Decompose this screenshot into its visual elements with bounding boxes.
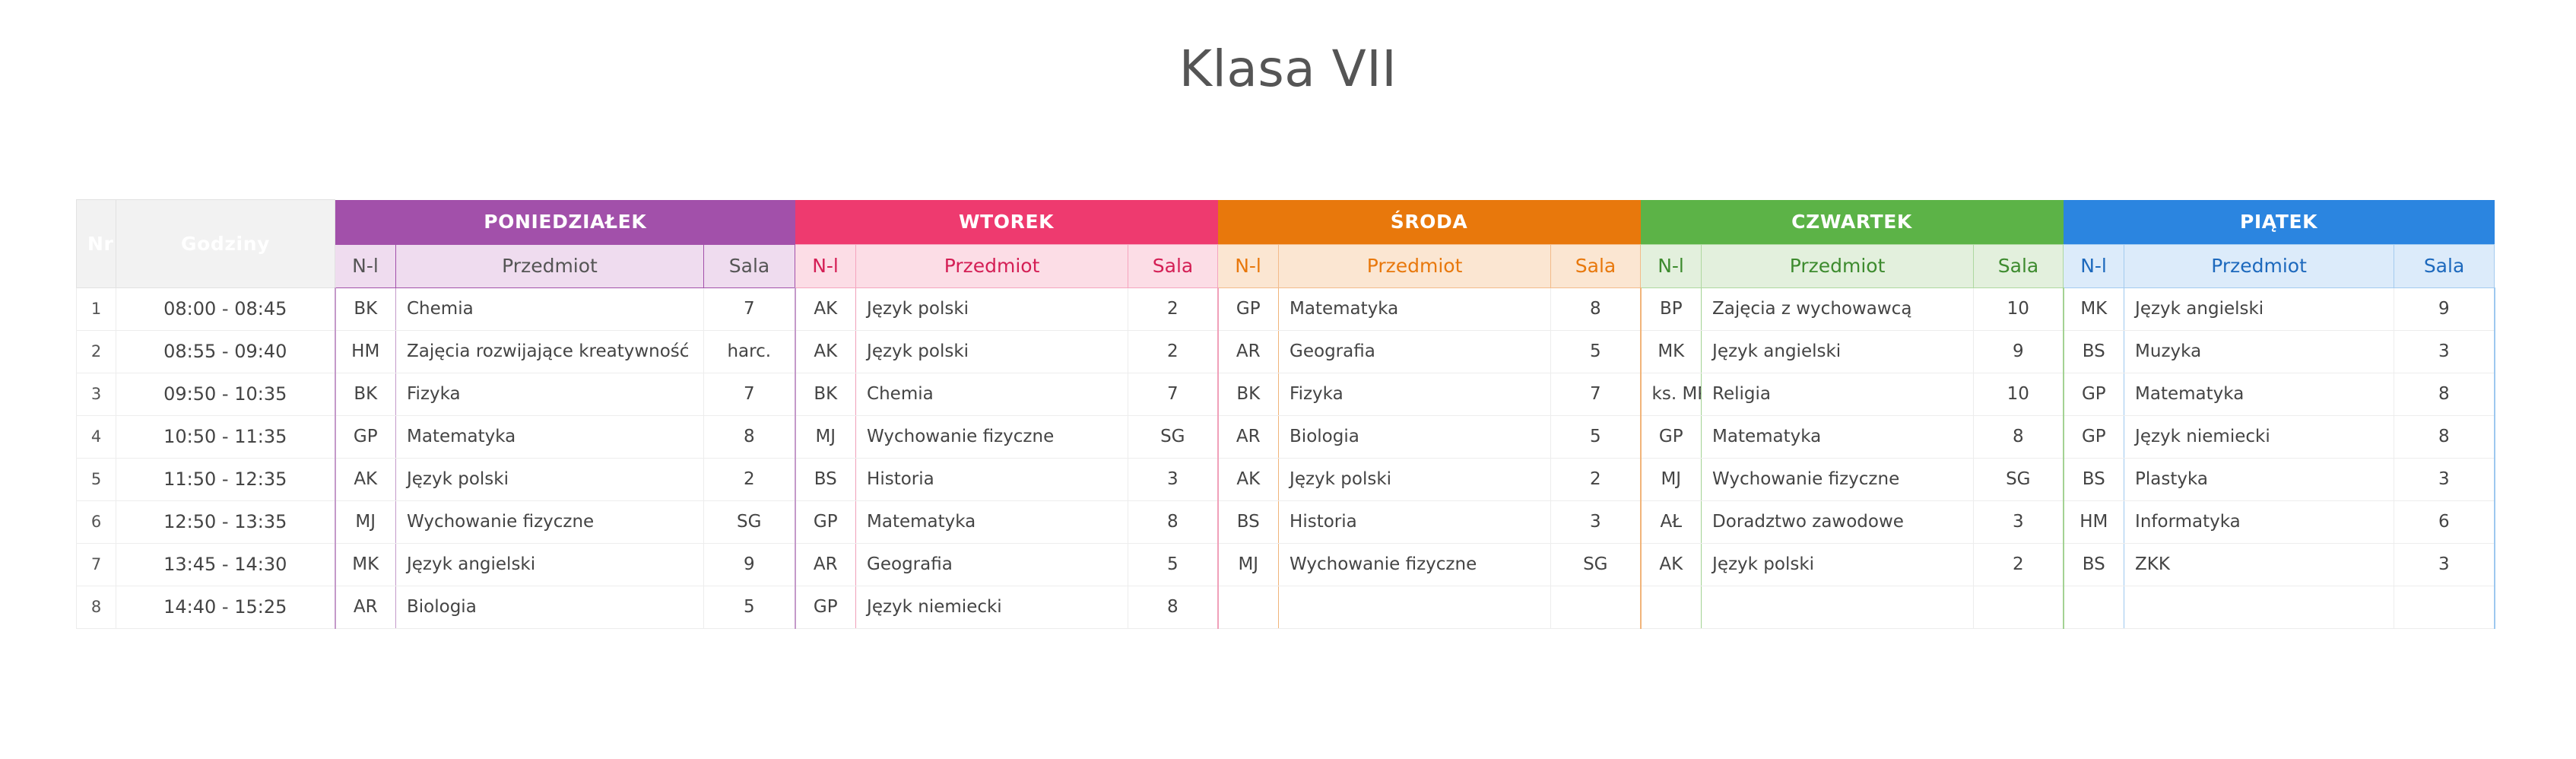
cell-teacher-tuesday: AK [795,330,856,373]
cell-room-wednesday: 5 [1551,330,1641,373]
cell-teacher-wednesday: GP [1218,287,1279,330]
cell-teacher-wednesday: AR [1218,330,1279,373]
cell-subject-wednesday: Historia [1279,500,1551,543]
cell-lesson-number: 6 [77,500,116,543]
cell-subject-tuesday: Chemia [856,373,1128,415]
cell-subject-thursday: Matematyka [1702,415,1974,458]
cell-teacher-tuesday: GP [795,500,856,543]
cell-room-friday: 6 [2394,500,2495,543]
cell-subject-monday: Fizyka [396,373,704,415]
cell-room-tuesday: 5 [1128,543,1218,586]
cell-room-tuesday: SG [1128,415,1218,458]
cell-teacher-monday: BK [335,373,396,415]
cell-subject-wednesday: Język polski [1279,458,1551,500]
cell-subject-tuesday: Matematyka [856,500,1128,543]
cell-teacher-tuesday: AR [795,543,856,586]
cell-subject-tuesday: Język polski [856,287,1128,330]
day-header-monday: PONIEDZIAŁEK [335,200,795,245]
cell-teacher-friday: GP [2064,415,2124,458]
table-row: 814:40 - 15:25ARBiologia5GPJęzyk niemiec… [77,586,2495,628]
cell-subject-monday: Matematyka [396,415,704,458]
cell-room-tuesday: 8 [1128,500,1218,543]
header-nr: Nr [77,200,116,288]
cell-room-friday: 3 [2394,543,2495,586]
cell-subject-tuesday: Wychowanie fizyczne [856,415,1128,458]
cell-lesson-number: 5 [77,458,116,500]
cell-lesson-time: 08:55 - 09:40 [116,330,335,373]
cell-teacher-thursday: ks. MP [1641,373,1702,415]
cell-subject-thursday: Język polski [1702,543,1974,586]
cell-teacher-tuesday: MJ [795,415,856,458]
cell-subject-wednesday: Matematyka [1279,287,1551,330]
table-row: 612:50 - 13:35MJWychowanie fizyczneSGGPM… [77,500,2495,543]
cell-lesson-time: 14:40 - 15:25 [116,586,335,628]
cell-teacher-wednesday [1218,586,1279,628]
cell-room-tuesday: 2 [1128,287,1218,330]
cell-teacher-wednesday: AK [1218,458,1279,500]
cell-lesson-time: 11:50 - 12:35 [116,458,335,500]
cell-teacher-friday [2064,586,2124,628]
cell-teacher-thursday [1641,586,1702,628]
cell-subject-friday: Język angielski [2124,287,2394,330]
cell-teacher-thursday: BP [1641,287,1702,330]
cell-room-friday [2394,586,2495,628]
cell-lesson-time: 10:50 - 11:35 [116,415,335,458]
cell-subject-wednesday: Wychowanie fizyczne [1279,543,1551,586]
cell-subject-thursday: Doradztwo zawodowe [1702,500,1974,543]
cell-teacher-monday: AK [335,458,396,500]
timetable: Nr Godziny PONIEDZIAŁEK WTOREK ŚRODA CZW… [76,199,2495,629]
subheader-friday-subject: Przedmiot [2124,244,2394,287]
cell-lesson-number: 7 [77,543,116,586]
cell-teacher-monday: GP [335,415,396,458]
cell-subject-thursday [1702,586,1974,628]
cell-lesson-number: 3 [77,373,116,415]
cell-teacher-wednesday: BS [1218,500,1279,543]
cell-lesson-time: 12:50 - 13:35 [116,500,335,543]
cell-teacher-friday: BS [2064,458,2124,500]
cell-teacher-tuesday: GP [795,586,856,628]
cell-lesson-number: 2 [77,330,116,373]
subheader-row: N-l Przedmiot Sala N-l Przedmiot Sala N-… [77,244,2495,287]
page-title: Klasa VII [0,40,2576,98]
cell-subject-wednesday: Geografia [1279,330,1551,373]
cell-subject-monday: Zajęcia rozwijające kreatywność [396,330,704,373]
cell-teacher-tuesday: BS [795,458,856,500]
cell-subject-friday: Matematyka [2124,373,2394,415]
header-godziny: Godziny [116,200,335,288]
table-row: 108:00 - 08:45BKChemia7AKJęzyk polski2GP… [77,287,2495,330]
cell-subject-wednesday: Fizyka [1279,373,1551,415]
cell-subject-friday: Plastyka [2124,458,2394,500]
cell-teacher-friday: MK [2064,287,2124,330]
table-row: 713:45 - 14:30MKJęzyk angielski9ARGeogra… [77,543,2495,586]
subheader-friday-teacher: N-l [2064,244,2124,287]
cell-subject-friday: Muzyka [2124,330,2394,373]
cell-subject-friday [2124,586,2394,628]
subheader-tuesday-teacher: N-l [795,244,856,287]
day-header-wednesday: ŚRODA [1218,200,1641,245]
cell-room-thursday: 10 [1974,373,2064,415]
cell-room-thursday: SG [1974,458,2064,500]
cell-subject-monday: Wychowanie fizyczne [396,500,704,543]
subheader-tuesday-room: Sala [1128,244,1218,287]
cell-subject-thursday: Język angielski [1702,330,1974,373]
timetable-header: Nr Godziny PONIEDZIAŁEK WTOREK ŚRODA CZW… [77,200,2495,288]
day-header-row: Nr Godziny PONIEDZIAŁEK WTOREK ŚRODA CZW… [77,200,2495,245]
cell-teacher-monday: MJ [335,500,396,543]
subheader-thursday-room: Sala [1974,244,2064,287]
cell-room-monday: 9 [704,543,795,586]
cell-teacher-monday: HM [335,330,396,373]
table-row: 309:50 - 10:35BKFizyka7BKChemia7BKFizyka… [77,373,2495,415]
cell-room-friday: 3 [2394,458,2495,500]
cell-room-monday: 5 [704,586,795,628]
cell-room-monday: 8 [704,415,795,458]
cell-subject-tuesday: Geografia [856,543,1128,586]
cell-room-wednesday: 7 [1551,373,1641,415]
cell-subject-thursday: Religia [1702,373,1974,415]
cell-room-thursday: 2 [1974,543,2064,586]
subheader-wednesday-teacher: N-l [1218,244,1279,287]
cell-teacher-wednesday: AR [1218,415,1279,458]
cell-lesson-number: 8 [77,586,116,628]
cell-room-thursday: 3 [1974,500,2064,543]
cell-teacher-monday: BK [335,287,396,330]
cell-lesson-number: 4 [77,415,116,458]
cell-room-tuesday: 2 [1128,330,1218,373]
cell-subject-friday: Informatyka [2124,500,2394,543]
cell-teacher-friday: GP [2064,373,2124,415]
cell-teacher-friday: HM [2064,500,2124,543]
subheader-monday-room: Sala [704,244,795,287]
cell-teacher-tuesday: AK [795,287,856,330]
cell-subject-thursday: Zajęcia z wychowawcą [1702,287,1974,330]
subheader-tuesday-subject: Przedmiot [856,244,1128,287]
cell-subject-tuesday: Język polski [856,330,1128,373]
cell-teacher-wednesday: MJ [1218,543,1279,586]
cell-room-tuesday: 8 [1128,586,1218,628]
cell-room-wednesday: 3 [1551,500,1641,543]
table-row: 208:55 - 09:40HMZajęcia rozwijające krea… [77,330,2495,373]
cell-room-wednesday: 2 [1551,458,1641,500]
cell-room-monday: 7 [704,373,795,415]
cell-subject-friday: Język niemiecki [2124,415,2394,458]
cell-lesson-time: 13:45 - 14:30 [116,543,335,586]
cell-room-monday: 7 [704,287,795,330]
cell-subject-tuesday: Język niemiecki [856,586,1128,628]
cell-teacher-friday: BS [2064,330,2124,373]
cell-subject-tuesday: Historia [856,458,1128,500]
cell-room-thursday: 9 [1974,330,2064,373]
timetable-page: Klasa VII Nr Godziny PONIEDZIAŁEK WTOREK… [0,0,2576,759]
cell-teacher-thursday: MJ [1641,458,1702,500]
cell-subject-monday: Język angielski [396,543,704,586]
cell-room-wednesday: SG [1551,543,1641,586]
cell-lesson-number: 1 [77,287,116,330]
cell-teacher-tuesday: BK [795,373,856,415]
cell-teacher-monday: MK [335,543,396,586]
cell-room-monday: SG [704,500,795,543]
subheader-monday-subject: Przedmiot [396,244,704,287]
cell-lesson-time: 08:00 - 08:45 [116,287,335,330]
cell-subject-thursday: Wychowanie fizyczne [1702,458,1974,500]
cell-room-friday: 8 [2394,373,2495,415]
cell-subject-monday: Biologia [396,586,704,628]
table-row: 410:50 - 11:35GPMatematyka8MJWychowanie … [77,415,2495,458]
cell-teacher-thursday: GP [1641,415,1702,458]
day-header-friday: PIĄTEK [2064,200,2495,245]
cell-room-thursday: 8 [1974,415,2064,458]
cell-subject-friday: ZKK [2124,543,2394,586]
subheader-monday-teacher: N-l [335,244,396,287]
table-row: 511:50 - 12:35AKJęzyk polski2BSHistoria3… [77,458,2495,500]
cell-subject-monday: Język polski [396,458,704,500]
cell-room-monday: 2 [704,458,795,500]
cell-lesson-time: 09:50 - 10:35 [116,373,335,415]
day-header-tuesday: WTOREK [795,200,1218,245]
cell-room-thursday [1974,586,2064,628]
cell-room-thursday: 10 [1974,287,2064,330]
cell-room-wednesday: 8 [1551,287,1641,330]
timetable-container: Nr Godziny PONIEDZIAŁEK WTOREK ŚRODA CZW… [76,199,2494,629]
subheader-wednesday-room: Sala [1551,244,1641,287]
subheader-friday-room: Sala [2394,244,2495,287]
subheader-thursday-teacher: N-l [1641,244,1702,287]
cell-teacher-thursday: MK [1641,330,1702,373]
subheader-thursday-subject: Przedmiot [1702,244,1974,287]
cell-teacher-monday: AR [335,586,396,628]
cell-room-wednesday [1551,586,1641,628]
cell-teacher-thursday: AK [1641,543,1702,586]
cell-subject-wednesday [1279,586,1551,628]
cell-room-tuesday: 3 [1128,458,1218,500]
cell-room-tuesday: 7 [1128,373,1218,415]
cell-room-friday: 3 [2394,330,2495,373]
day-header-thursday: CZWARTEK [1641,200,2064,245]
cell-teacher-thursday: AŁ [1641,500,1702,543]
cell-room-monday: harc. [704,330,795,373]
cell-room-friday: 8 [2394,415,2495,458]
timetable-body: 108:00 - 08:45BKChemia7AKJęzyk polski2GP… [77,287,2495,628]
subheader-wednesday-subject: Przedmiot [1279,244,1551,287]
cell-subject-wednesday: Biologia [1279,415,1551,458]
cell-room-friday: 9 [2394,287,2495,330]
cell-teacher-wednesday: BK [1218,373,1279,415]
cell-subject-monday: Chemia [396,287,704,330]
cell-teacher-friday: BS [2064,543,2124,586]
cell-room-wednesday: 5 [1551,415,1641,458]
